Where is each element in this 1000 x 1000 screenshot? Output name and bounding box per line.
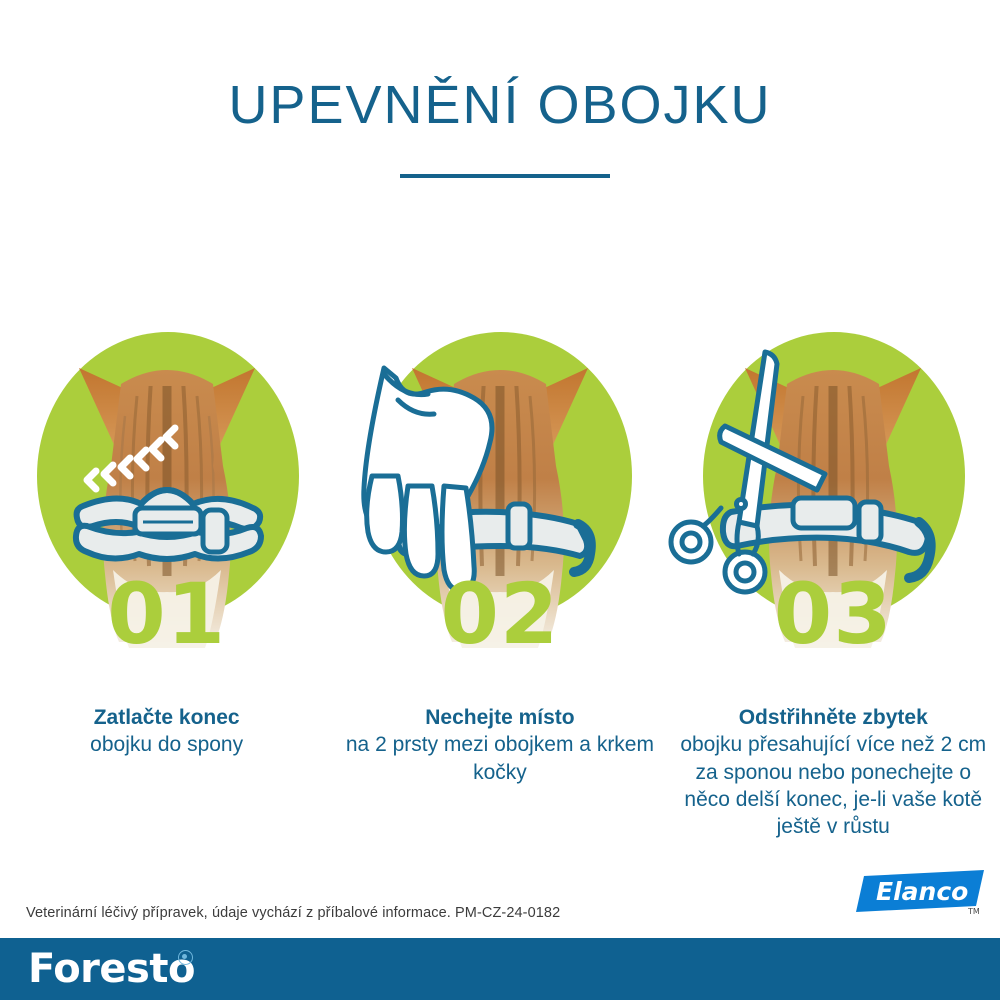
brand-bottom-bar: Foresto [0,938,1000,1000]
registered-mark-icon [178,950,193,965]
step-02-headline: Nechejte místo [340,704,660,731]
step-01-body: obojku do spony [7,731,327,758]
step-01: 01 Zatlačte konec obojku do spony [0,326,333,886]
step-01-caption: Zatlačte konec obojku do spony [7,704,327,759]
step-01-figure: 01 [17,326,317,626]
hand-two-fingers-icon [364,368,492,590]
step-03-body: obojku přesahující více než 2 cm za spon… [673,731,993,840]
step-02-caption: Nechejte místo na 2 prsty mezi obojkem a… [340,704,660,786]
step-03-headline: Odstřihněte zbytek [673,704,993,731]
step-03-number: 03 [683,572,983,656]
elanco-logo: Elanco TM [856,866,984,918]
step-02: 02 Nechejte místo na 2 prsty mezi obojke… [333,326,666,886]
collar-buckle-icon [76,490,261,559]
elanco-logo-text: Elanco [876,877,968,906]
step-03-figure: 03 [683,326,983,626]
title-divider [400,174,610,178]
step-03-caption: Odstřihněte zbytek obojku přesahující ví… [673,704,993,840]
step-02-figure: 02 [350,326,650,626]
step-03: 03 Odstřihněte zbytek obojku přesahující… [667,326,1000,886]
foresto-wordmark: Foresto [28,946,195,992]
step-01-number: 01 [17,572,317,656]
step-02-number: 02 [350,572,650,656]
page-title: UPEVNĚNÍ OBOJKU [0,78,1000,132]
step-01-headline: Zatlačte konec [7,704,327,731]
legal-disclaimer: Veterinární léčivý přípravek, údaje vych… [26,905,560,921]
steps-container: 01 Zatlačte konec obojku do spony [0,326,1000,886]
step-02-body: na 2 prsty mezi obojkem a krkem kočky [340,731,660,786]
elanco-trademark: TM [967,907,980,916]
infographic-page: UPEVNĚNÍ OBOJKU [0,0,1000,1000]
